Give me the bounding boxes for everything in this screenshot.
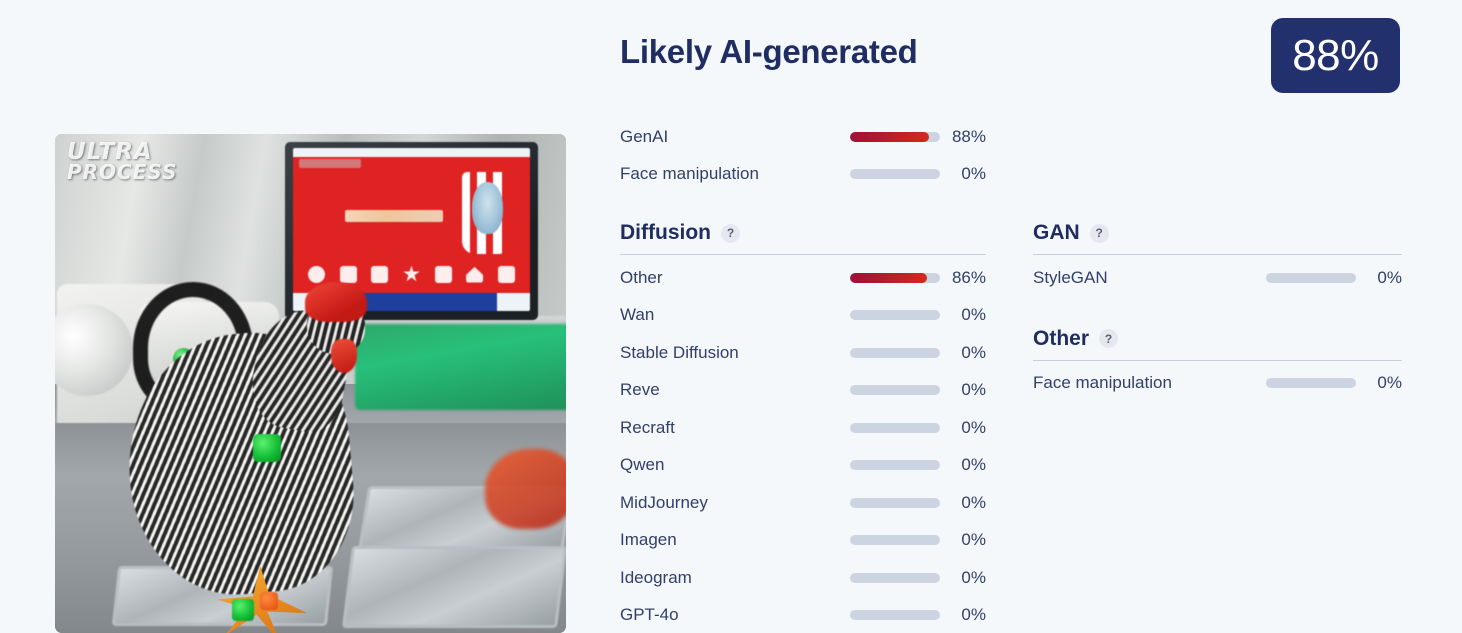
model-row-label: Other [620,268,663,288]
model-row-label: Imagen [620,530,677,550]
model-row-meter: 0% [850,418,986,438]
progress-bar-track [1266,378,1356,388]
screen-icon-square-a [340,266,357,283]
chicken-wattle [331,339,357,373]
section-rows: Face manipulation0% [1033,361,1402,403]
screen-icon-square-b [371,266,388,283]
model-row-percent: 0% [940,605,986,625]
chicken-comb [305,282,367,322]
watermark-line-2: PROCESS [67,162,178,182]
chicken-foot-orange-tag [260,592,278,610]
model-row-meter: 0% [850,530,986,550]
screen-icon-square-d [498,266,515,283]
progress-bar-track [850,498,940,508]
summary-row-label: GenAI [620,127,668,147]
model-row-percent: 0% [1356,268,1402,288]
model-row: Other86% [620,259,986,297]
progress-bar-track [850,460,940,470]
summary-row-meter: 88% [850,127,986,147]
screen-topbar [293,148,530,157]
model-row-percent: 0% [940,305,986,325]
progress-bar-track [850,169,940,179]
progress-bar-track [850,610,940,620]
screen-icon-square-c [435,266,452,283]
help-icon[interactable]: ? [721,224,740,243]
model-row-label: Stable Diffusion [620,343,739,363]
model-row: Face manipulation0% [1033,365,1402,403]
analyzed-media-preview[interactable]: ULTRA PROCESS [55,134,566,633]
progress-bar-track [850,273,940,283]
section-header: Diffusion ? [620,221,986,254]
video-watermark: ULTRA PROCESS [67,142,178,182]
progress-bar-track [850,423,940,433]
section-other: Other ? Face manipulation0% [1033,327,1402,403]
progress-bar-track [850,573,940,583]
help-icon[interactable]: ? [1090,224,1109,243]
watermark-line-1: ULTRA [67,142,178,162]
progress-bar-track [850,310,940,320]
progress-bar-fill [850,132,929,142]
progress-bar-track [850,385,940,395]
model-row: Recraft0% [620,409,986,447]
model-row-meter: 0% [850,305,986,325]
model-row-percent: 0% [940,418,986,438]
screen-icon-home [466,266,483,283]
section-gan: GAN ? StyleGAN0% [1033,221,1402,297]
score-badge: 88% [1271,18,1400,93]
model-row-percent: 0% [940,568,986,588]
section-title: GAN [1033,221,1080,245]
model-row-meter: 0% [1266,268,1402,288]
summary-row-percent: 0% [940,164,986,184]
model-row-label: Reve [620,380,660,400]
section-rows: StyleGAN0% [1033,255,1402,297]
model-row-meter: 0% [850,568,986,588]
model-row-percent: 0% [940,493,986,513]
model-row-meter: 0% [850,343,986,363]
green-conveyor-belt [355,324,566,410]
model-row-meter: 0% [850,605,986,625]
section-header: GAN ? [1033,221,1402,254]
screen-icon-star [403,266,420,283]
model-row-meter: 0% [850,455,986,475]
model-row-label: MidJourney [620,493,708,513]
summary-row: Face manipulation 0% [620,156,986,194]
model-row: Stable Diffusion0% [620,334,986,372]
summary-row: GenAI 88% [620,118,986,156]
section-rows: Other86%Wan0%Stable Diffusion0%Reve0%Rec… [620,255,986,633]
progress-bar-track [850,348,940,358]
model-row-meter: 0% [1266,373,1402,393]
model-row-label: Face manipulation [1033,373,1172,393]
summary-row-label: Face manipulation [620,164,759,184]
model-row-label: StyleGAN [1033,268,1108,288]
summary-row-meter: 0% [850,164,986,184]
model-row: MidJourney0% [620,484,986,522]
summary-row-percent: 88% [940,127,986,147]
model-row-meter: 0% [850,493,986,513]
progress-bar-track [1266,273,1356,283]
model-row: Imagen0% [620,522,986,560]
background-chicken [485,449,566,529]
section-title: Diffusion [620,221,711,245]
progress-bar-track [850,132,940,142]
model-row-percent: 0% [940,380,986,400]
screen-status-chip [299,159,361,168]
chicken-foot-green-tag [232,599,254,621]
chicken-green-tag [253,434,281,462]
summary-list: GenAI 88% Face manipulation 0% [620,118,986,193]
model-row-label: Ideogram [620,568,692,588]
model-row: StyleGAN0% [1033,259,1402,297]
preview-canvas [55,134,566,633]
section-header: Other ? [1033,327,1402,360]
model-row-percent: 0% [1356,373,1402,393]
metal-tray [342,546,566,628]
model-row: Qwen0% [620,447,986,485]
model-row: Wan0% [620,297,986,335]
model-row-label: Recraft [620,418,675,438]
help-icon[interactable]: ? [1099,329,1118,348]
model-row-percent: 0% [940,343,986,363]
model-row: Reve0% [620,372,986,410]
score-badge-value: 88% [1292,31,1379,81]
section-spacer [1033,297,1402,327]
model-row-label: GPT-4o [620,605,679,625]
section-diffusion: Diffusion ? Other86%Wan0%Stable Diffusio… [620,221,986,633]
right-sections: GAN ? StyleGAN0% Other ? Face manipulati… [1033,221,1402,402]
progress-bar-fill [850,273,927,283]
model-row-percent: 0% [940,455,986,475]
model-row-percent: 0% [940,530,986,550]
screen-headline-text [345,210,443,222]
kfc-colonel-face [472,182,503,234]
model-row: GPT-4o0% [620,597,986,633]
verdict-title: Likely AI-generated [620,33,918,71]
screen-icon-circle [308,266,325,283]
model-row-label: Qwen [620,455,664,475]
model-row-percent: 86% [940,268,986,288]
model-row-label: Wan [620,305,654,325]
model-row-meter: 86% [850,268,986,288]
section-title: Other [1033,327,1089,351]
analysis-page: ULTRA PROCESS Likely AI-generated 88% Ge… [0,0,1462,633]
model-row: Ideogram0% [620,559,986,597]
progress-bar-track [850,535,940,545]
model-row-meter: 0% [850,380,986,400]
